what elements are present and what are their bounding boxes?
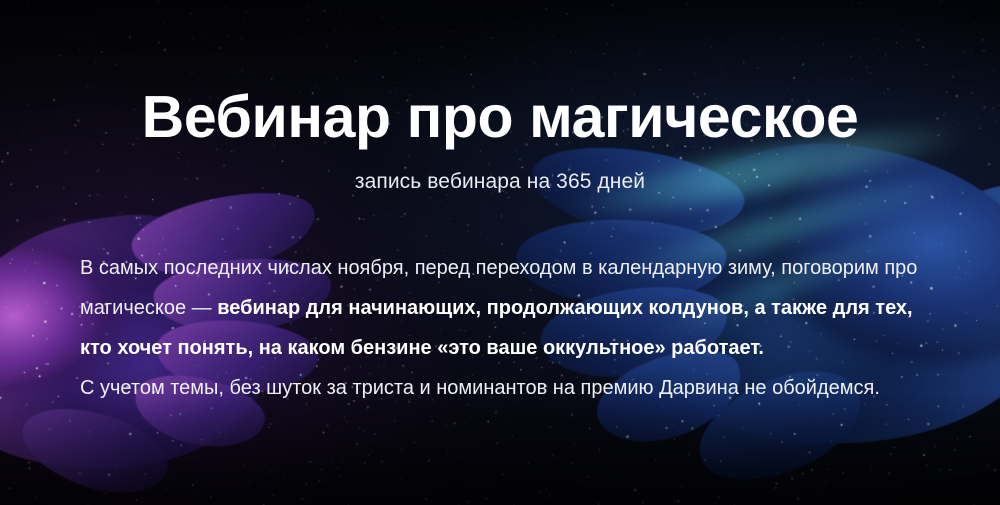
hero-content: Вебинар про магическое запись вебинара н… <box>0 0 1000 505</box>
hero-body-copy: В самых последних числах ноября, перед п… <box>80 248 920 408</box>
webinar-hero-banner: Вебинар про магическое запись вебинара н… <box>0 0 1000 505</box>
body-paragraph-1: В самых последних числах ноября, перед п… <box>80 248 920 368</box>
hero-subtitle: запись вебинара на 365 дней <box>0 170 1000 194</box>
page-title: Вебинар про магическое <box>0 86 1000 150</box>
body-paragraph-2: С учетом темы, без шуток за триста и ном… <box>80 368 920 408</box>
